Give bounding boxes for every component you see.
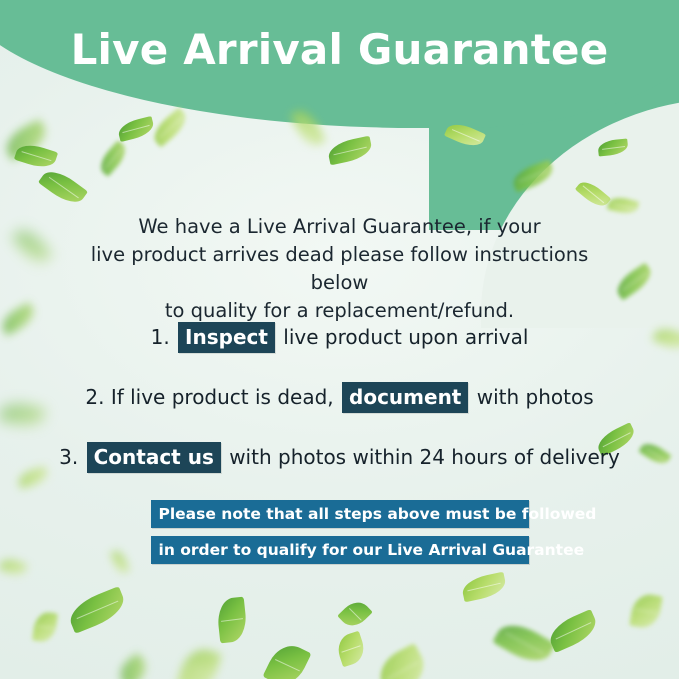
step-item-1: 1. Inspect live product upon arrival: [0, 322, 679, 353]
live-arrival-guarantee-poster: Live Arrival Guarantee: [0, 0, 679, 679]
intro-line-1: We have a Live Arrival Guarantee, if you…: [70, 213, 610, 241]
note-line-1: Please note that all steps above must be…: [151, 500, 529, 528]
intro-line-3: to quality for a replacement/refund.: [70, 297, 610, 325]
note-line-2: in order to qualify for our Live Arrival…: [151, 536, 529, 564]
step-text-2-after: with photos: [477, 385, 594, 409]
step-number-1: 1.: [151, 325, 170, 349]
step-highlight-1: Inspect: [178, 322, 275, 353]
step-number-3: 3.: [59, 445, 78, 469]
step-item-2: 2. If live product is dead, document wit…: [0, 382, 679, 413]
step-text-3: with photos within 24 hours of delivery: [229, 445, 620, 469]
intro-line-2: live product arrives dead please follow …: [70, 241, 610, 297]
intro-paragraph: We have a Live Arrival Guarantee, if you…: [70, 213, 610, 325]
step-text-1: live product upon arrival: [283, 325, 528, 349]
content-area: We have a Live Arrival Guarantee, if you…: [0, 0, 679, 679]
step-text-2-before: If live product is dead,: [111, 385, 334, 409]
step-item-3: 3. Contact us with photos within 24 hour…: [0, 442, 679, 473]
page-title: Live Arrival Guarantee: [0, 29, 679, 71]
note-banner: Please note that all steps above must be…: [151, 500, 529, 564]
steps-list: 1. Inspect live product upon arrival 2. …: [0, 322, 679, 502]
step-number-2: 2.: [85, 385, 104, 409]
step-highlight-3: Contact us: [87, 442, 221, 473]
step-highlight-2: document: [342, 382, 468, 413]
